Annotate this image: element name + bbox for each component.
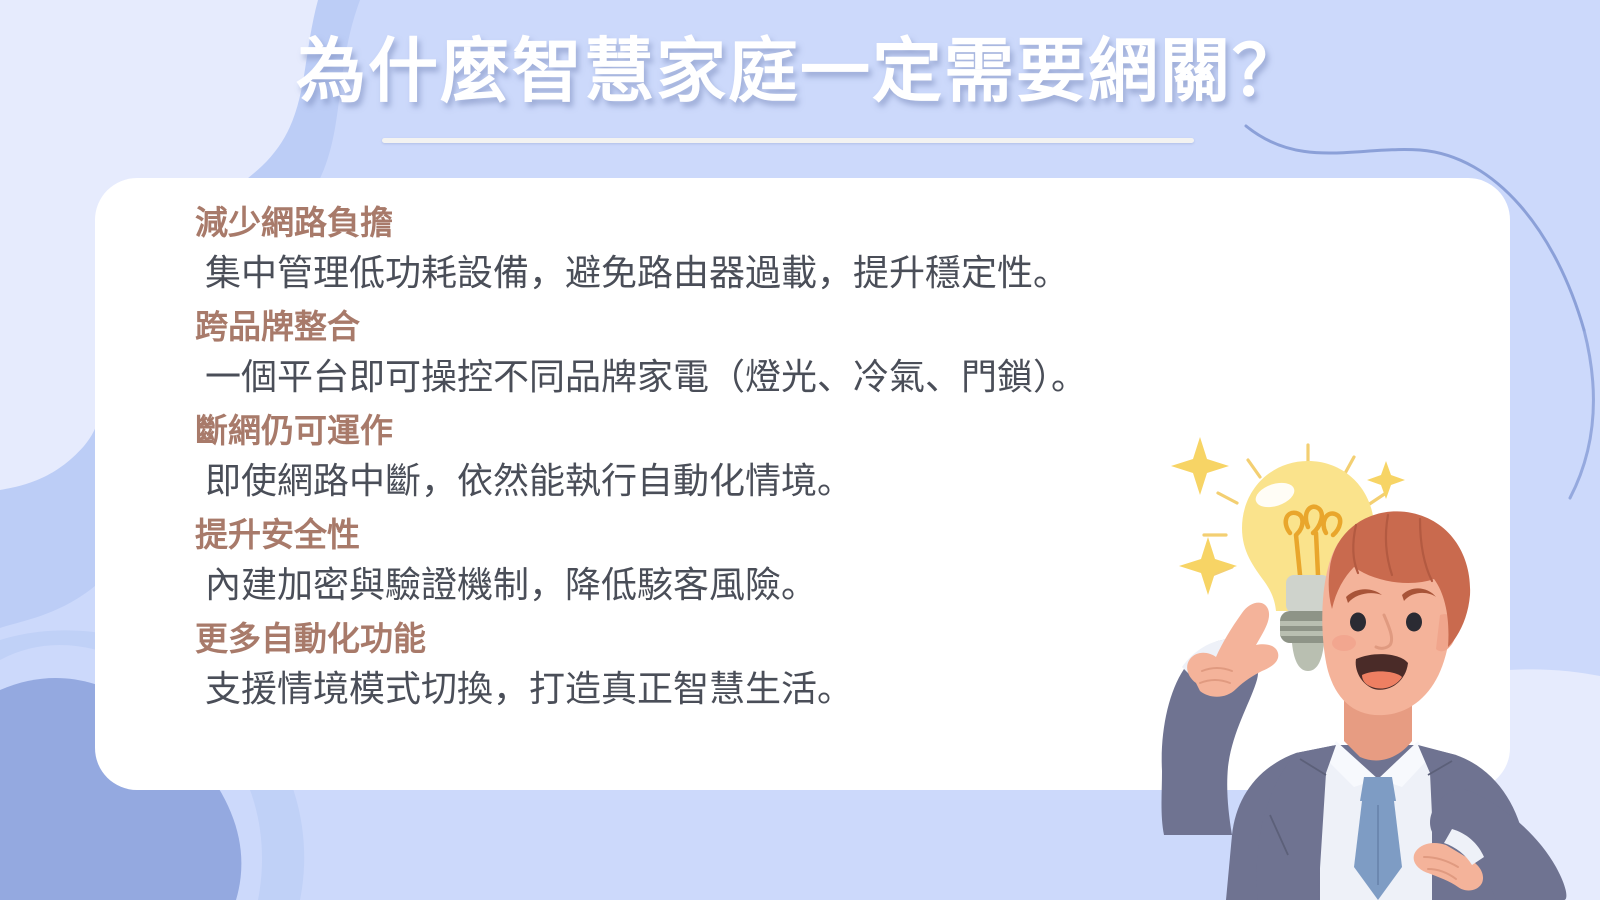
poster-canvas: 為什麼智慧家庭一定需要網關？ 減少網路負擔 集中管理低功耗設備，避免路由器過載，… [0, 0, 1600, 900]
sparkle-icon [1367, 461, 1405, 499]
cheek-blush [1332, 635, 1356, 651]
benefit-heading: 跨品牌整合 [195, 304, 1275, 351]
benefit-body: 一個平台即可操控不同品牌家電（燈光、冷氣、門鎖）。 [195, 351, 1275, 402]
benefit-body: 支援情境模式切換，打造真正智慧生活。 [195, 663, 1275, 714]
necktie-knot [1360, 777, 1396, 801]
list-item: 斷網仍可運作 即使網路中斷，依然能執行自動化情境。 [195, 408, 1275, 506]
list-item: 減少網路負擔 集中管理低功耗設備，避免路由器過載，提升穩定性。 [195, 200, 1275, 298]
eye-left [1350, 613, 1366, 632]
benefit-body: 即使網路中斷，依然能執行自動化情境。 [195, 455, 1275, 506]
benefit-body: 內建加密與驗證機制，降低駭客風險。 [195, 559, 1275, 610]
page-title: 為什麼智慧家庭一定需要網關？ [296, 32, 1304, 110]
benefits-list: 減少網路負擔 集中管理低功耗設備，避免路由器過載，提升穩定性。 跨品牌整合 一個… [195, 200, 1275, 720]
lightbulb-tip [1292, 643, 1324, 671]
benefit-heading: 減少網路負擔 [195, 200, 1275, 247]
sparkle-icon [1171, 437, 1229, 495]
illustration-businessman [1140, 415, 1600, 900]
list-item: 提升安全性 內建加密與驗證機制，降低駭客風險。 [195, 512, 1275, 610]
benefit-body: 集中管理低功耗設備，避免路由器過載，提升穩定性。 [195, 247, 1275, 298]
benefit-heading: 斷網仍可運作 [195, 408, 1275, 455]
title-underline [382, 138, 1194, 143]
benefit-heading: 更多自動化功能 [195, 616, 1275, 663]
businessman-svg [1140, 415, 1600, 900]
benefit-heading: 提升安全性 [195, 512, 1275, 559]
eye-right [1406, 613, 1422, 632]
list-item: 更多自動化功能 支援情境模式切換，打造真正智慧生活。 [195, 616, 1275, 714]
list-item: 跨品牌整合 一個平台即可操控不同品牌家電（燈光、冷氣、門鎖）。 [195, 304, 1275, 402]
sparkle-icon [1179, 537, 1237, 595]
page-title-wrap: 為什麼智慧家庭一定需要網關？ [0, 32, 1600, 110]
